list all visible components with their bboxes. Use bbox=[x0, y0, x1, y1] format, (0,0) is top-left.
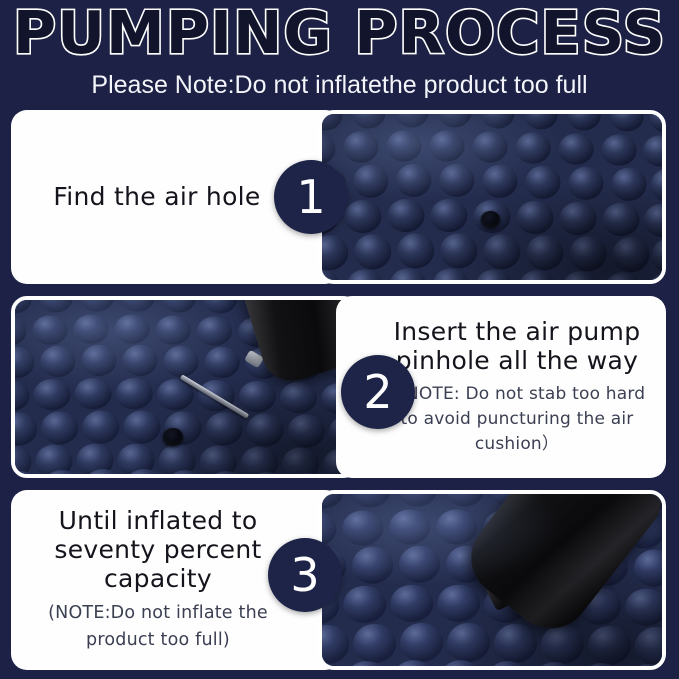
header-note: Please Note:Do not inflatethe product to… bbox=[0, 70, 679, 100]
air-hole-1 bbox=[481, 211, 500, 228]
step-1-headline: Find the air hole bbox=[53, 182, 260, 212]
cushion-bumps-1 bbox=[318, 110, 666, 284]
step-2-note: （NOTE: Do not stab too hard to avoid pun… bbox=[380, 382, 654, 457]
step-badge-3: 3 bbox=[268, 538, 342, 612]
page-title: PUMPING PROCESS bbox=[0, 2, 679, 64]
pumping-process-infographic: PUMPING PROCESS Please Note:Do not infla… bbox=[0, 0, 679, 679]
header: PUMPING PROCESS Please Note:Do not infla… bbox=[0, 0, 679, 108]
step-badge-2: 2 bbox=[341, 355, 415, 429]
air-hole-2 bbox=[163, 428, 183, 446]
step-1-photo-card bbox=[318, 110, 666, 284]
step-badge-1: 1 bbox=[274, 160, 348, 234]
step-3-note: (NOTE:Do not inflate the product too ful… bbox=[21, 600, 295, 654]
step-3-headline: Until inflated to seventy percent capaci… bbox=[21, 506, 295, 593]
step-row-2: Insert the air pump pinhole all the way … bbox=[11, 296, 666, 478]
step-3-photo-card bbox=[318, 490, 666, 670]
step-2-photo-card bbox=[11, 296, 359, 478]
step-2-headline: Insert the air pump pinhole all the way bbox=[380, 317, 654, 375]
